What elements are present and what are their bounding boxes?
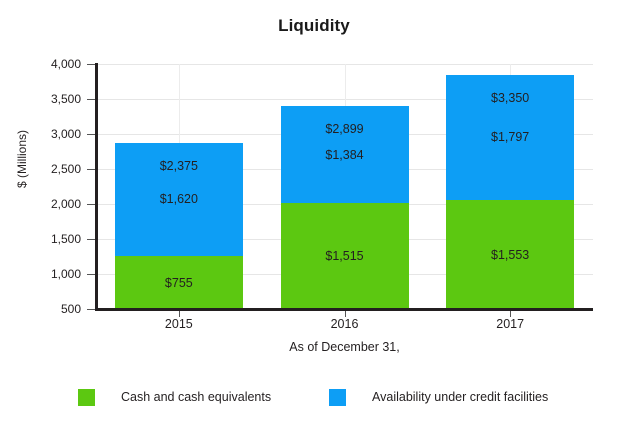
- y-axis-tick-label: 3,500: [29, 92, 81, 106]
- legend-label: Availability under credit facilities: [372, 390, 548, 404]
- legend-swatch-icon: [329, 389, 346, 406]
- y-axis-tick-label: 3,000: [29, 127, 81, 141]
- bar-segment-2016-series-1[interactable]: $1,384: [281, 106, 409, 203]
- y-axis-tick-label: 1,500: [29, 232, 81, 246]
- legend-item-1[interactable]: Availability under credit facilities: [329, 385, 548, 409]
- y-axis-tick-label: 2,000: [29, 197, 81, 211]
- legend-swatch-icon: [78, 389, 95, 406]
- chart-legend: Cash and cash equivalentsAvailability un…: [0, 385, 628, 409]
- x-axis-title: As of December 31,: [96, 340, 593, 354]
- y-axis-tick-label: 4,000: [29, 57, 81, 71]
- plot-area: $755$1,620$2,375$1,515$1,384$2,899$1,553…: [96, 64, 593, 309]
- y-axis-title: $ (Millions): [15, 89, 29, 229]
- y-axis-line: [95, 63, 98, 310]
- bar-segment-value-label: $1,797: [491, 130, 529, 144]
- x-axis-tick-label-2015: 2015: [134, 317, 224, 331]
- bar-segment-value-label: $1,620: [160, 192, 198, 206]
- bar-total-label-2015: $2,375: [99, 159, 259, 173]
- bar-segment-value-label: $1,384: [325, 148, 363, 162]
- bar-segment-2016-series-0[interactable]: $1,515: [281, 203, 409, 309]
- y-axis-tick-label: 1,000: [29, 267, 81, 281]
- bar-segment-value-label: $1,553: [491, 248, 529, 262]
- legend-label: Cash and cash equivalents: [121, 390, 271, 404]
- x-axis-tick-label-2016: 2016: [300, 317, 390, 331]
- x-axis-tick-label-2017: 2017: [465, 317, 555, 331]
- bar-segment-value-label: $755: [165, 276, 193, 290]
- bar-segment-value-label: $1,515: [325, 249, 363, 263]
- bar-segment-2017-series-0[interactable]: $1,553: [446, 200, 574, 309]
- legend-item-0[interactable]: Cash and cash equivalents: [78, 385, 271, 409]
- bar-total-label-2016: $2,899: [265, 122, 425, 136]
- bar-group-2016[interactable]: $1,515$1,384: [281, 64, 409, 309]
- bar-segment-2015-series-0[interactable]: $755: [115, 256, 243, 309]
- y-axis-tick-label: 2,500: [29, 162, 81, 176]
- bar-total-label-2017: $3,350: [430, 91, 590, 105]
- liquidity-chart: Liquidity $ (Millions) $755$1,620$2,375$…: [0, 0, 628, 433]
- chart-title: Liquidity: [0, 16, 628, 36]
- bar-group-2015[interactable]: $755$1,620: [115, 64, 243, 309]
- y-axis-tick-label: 500: [29, 302, 81, 316]
